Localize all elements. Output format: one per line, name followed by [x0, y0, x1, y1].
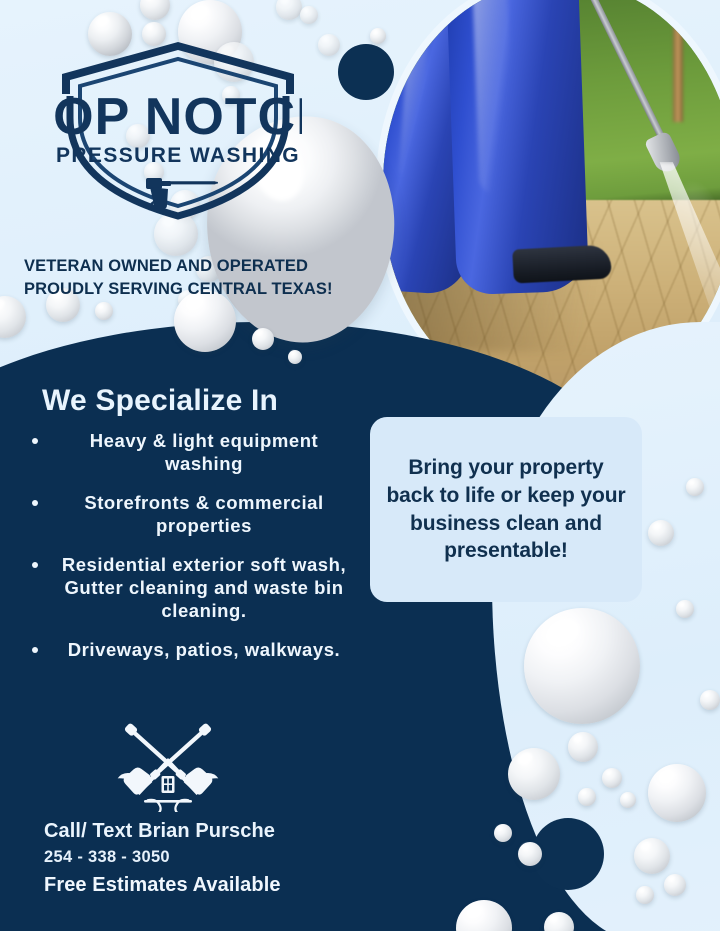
callout-text: Bring your property back to life or keep… [384, 454, 628, 566]
logo: TOP NOTCH PRESSURE WASHING [54, 34, 302, 224]
bubble-icon [568, 732, 598, 762]
list-item-label: Storefronts & commercial properties [84, 492, 323, 536]
bubble-icon [620, 792, 636, 808]
bubble-icon [370, 28, 386, 44]
bullet-icon [32, 438, 38, 444]
bubble-icon [648, 764, 706, 822]
bubble-icon [252, 328, 274, 350]
bubble-icon [578, 788, 596, 806]
specialize-list: Heavy & light equipment washing Storefro… [14, 430, 364, 678]
list-item: Storefronts & commercial properties [14, 492, 364, 538]
bubble-icon [602, 768, 622, 788]
tagline-line-2: PROUDLY SERVING CENTRAL TEXAS! [24, 278, 364, 301]
contact-block: Call/ Text Brian Pursche 254 - 338 - 305… [44, 820, 374, 897]
photo-wand [579, 0, 669, 147]
list-item-label: Heavy & light equipment washing [90, 430, 319, 474]
bubble-icon [700, 690, 720, 710]
photo-leg-highlight [472, 0, 515, 195]
bubble-icon [686, 478, 704, 496]
bubble-icon [300, 6, 318, 24]
callout-box: Bring your property back to life or keep… [370, 417, 642, 602]
flyer-page: TOP NOTCH PRESSURE WASHING VETERAN OWNED… [0, 0, 720, 931]
svg-text:PRESSURE WASHING: PRESSURE WASHING [56, 144, 300, 167]
list-item: Residential exterior soft wash, Gutter c… [14, 554, 364, 623]
tagline-line-1: VETERAN OWNED AND OPERATED [24, 255, 364, 278]
bubble-icon [664, 874, 686, 896]
bubble-icon [95, 302, 113, 320]
bubble-icon [518, 842, 542, 866]
bullet-icon [32, 647, 38, 653]
svg-text:TOP NOTCH: TOP NOTCH [54, 88, 302, 146]
bubble-icon [634, 838, 670, 874]
bullet-icon [32, 500, 38, 506]
free-estimates-label: Free Estimates Available [44, 874, 374, 897]
list-item-label: Driveways, patios, walkways. [68, 639, 340, 660]
bubble-icon [636, 886, 654, 904]
list-item-label: Residential exterior soft wash, Gutter c… [62, 554, 346, 621]
bullet-icon [32, 562, 38, 568]
navy-accent-circle [338, 44, 394, 100]
crossed-wands-house-icon [104, 716, 232, 812]
specialize-title: We Specialize In [42, 384, 278, 418]
list-item: Driveways, patios, walkways. [14, 639, 364, 662]
photo-boot [512, 244, 612, 283]
bubble-icon [676, 600, 694, 618]
navy-accent-circle [532, 818, 604, 890]
bubble-icon [288, 350, 302, 364]
photo-leg-highlight [398, 0, 432, 181]
photo-post [673, 0, 683, 122]
bubble-icon [318, 34, 340, 56]
bubble-icon [494, 824, 512, 842]
bubble-icon [648, 520, 674, 546]
list-item: Heavy & light equipment washing [14, 430, 364, 476]
contact-name: Call/ Text Brian Pursche [44, 820, 374, 843]
bubble-icon [508, 748, 560, 800]
tagline: VETERAN OWNED AND OPERATED PROUDLY SERVI… [24, 255, 364, 301]
bubble-icon [524, 608, 640, 724]
contact-phone[interactable]: 254 - 338 - 3050 [44, 848, 374, 867]
